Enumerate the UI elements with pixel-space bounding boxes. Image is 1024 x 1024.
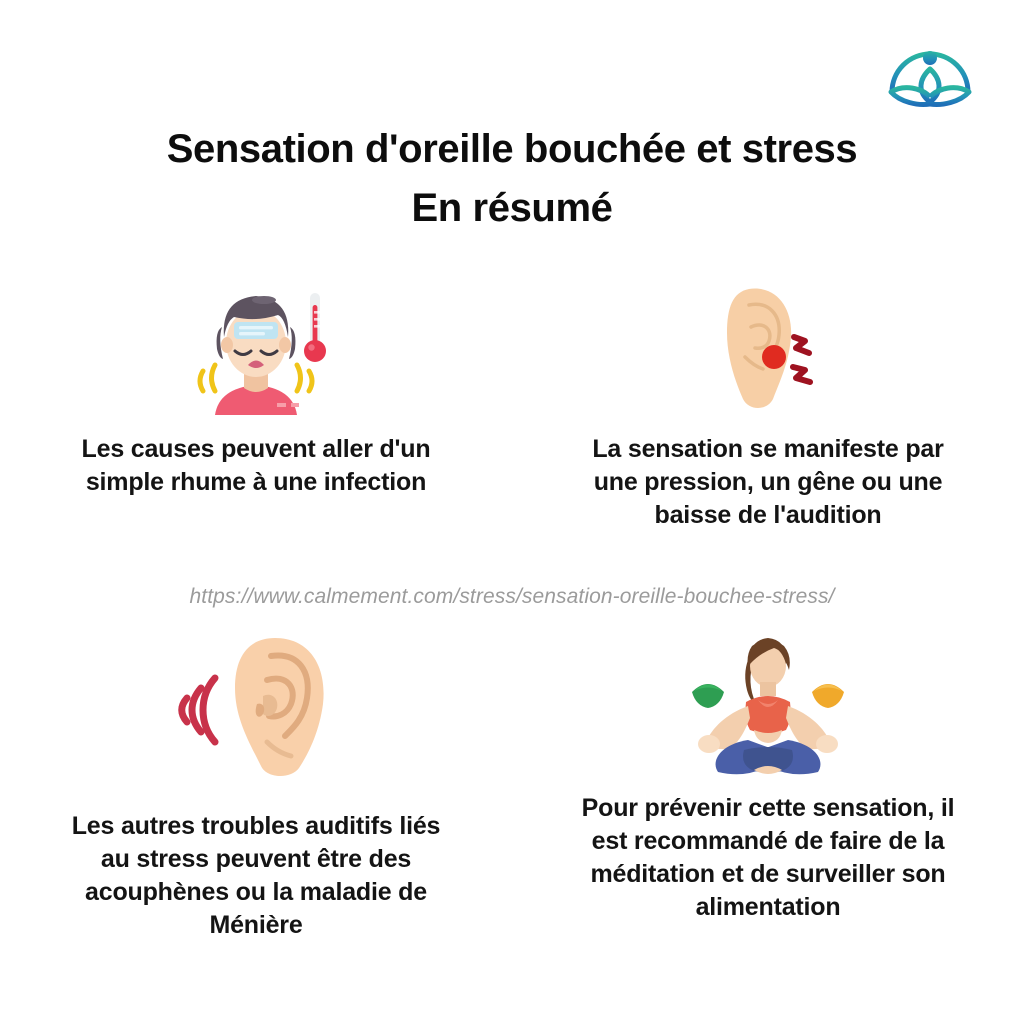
ear-soundwave-icon	[171, 630, 341, 780]
woman-meditating-lotus-icon	[678, 630, 858, 780]
lotus-meditation-logo-icon	[878, 22, 982, 126]
cards-row-1: Les causes peuvent aller d'un simple rhu…	[0, 275, 1024, 532]
sick-person-fever-icon	[181, 275, 331, 415]
card-caption: Pour prévenir cette sensation, il est re…	[573, 792, 963, 924]
card-caption: Les autres troubles auditifs liés au str…	[61, 810, 451, 942]
source-url[interactable]: https://www.calmement.com/stress/sensati…	[0, 585, 1024, 609]
cards-row-2: Les autres troubles auditifs liés au str…	[0, 630, 1024, 942]
page-title: Sensation d'oreille bouchée et stress En…	[0, 126, 1024, 234]
card-caption: Les causes peuvent aller d'un simple rhu…	[61, 433, 451, 499]
title-line-1: Sensation d'oreille bouchée et stress	[0, 126, 1024, 172]
infographic-canvas: Sensation d'oreille bouchée et stress En…	[0, 0, 1024, 1024]
card-caption: La sensation se manifeste par une pressi…	[573, 433, 963, 532]
title-line-2: En résumé	[0, 182, 1024, 234]
card-other-disorders: Les autres troubles auditifs liés au str…	[0, 630, 512, 942]
card-symptoms: La sensation se manifeste par une pressi…	[512, 275, 1024, 532]
ear-pain-icon	[693, 275, 843, 415]
card-causes: Les causes peuvent aller d'un simple rhu…	[0, 275, 512, 532]
card-prevention: Pour prévenir cette sensation, il est re…	[512, 630, 1024, 942]
